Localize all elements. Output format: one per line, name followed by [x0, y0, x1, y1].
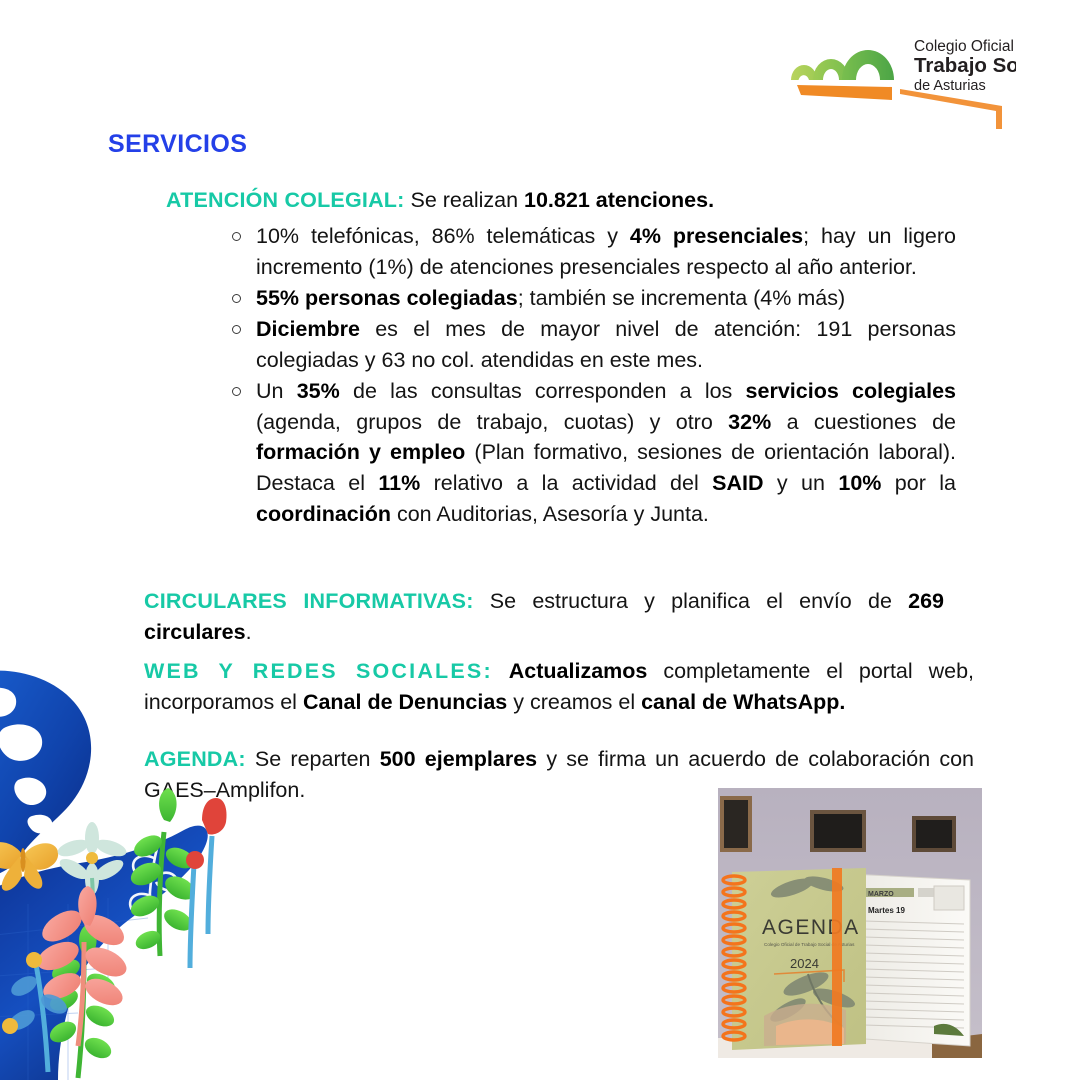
atencion-bullet-list: 10% telefónicas, 86% telemáticas y 4% pr…: [166, 221, 956, 531]
text-run: Un: [256, 379, 297, 403]
text-run: Se estructura y planifica el envío de: [474, 589, 909, 613]
bold-run: SAID: [712, 471, 763, 495]
text-run: y creamos el: [507, 690, 641, 714]
text-run: (agenda, grupos de trabajo, cuotas) y ot…: [256, 410, 728, 434]
planner-day: Martes 19: [868, 906, 905, 915]
text-run: con Auditorias, Asesoría y Junta.: [391, 502, 709, 526]
cover-year: 2024: [790, 956, 819, 971]
logo-arches-icon: [791, 50, 894, 80]
bullet-item: 10% telefónicas, 86% telemáticas y 4% pr…: [166, 221, 956, 283]
paragraph-heading: CIRCULARES INFORMATIVAS:: [144, 589, 474, 613]
slide-page: Colegio Oficial de Trabajo Social de Ast…: [0, 0, 1080, 1080]
agenda-cover-icon: AGENDA Colegio Oficial de Trabajo Social…: [723, 868, 866, 1050]
logo-line3: de Asturias: [914, 78, 986, 94]
agenda-photo: MARZO Martes 19: [718, 788, 982, 1058]
bold-run: 4% presenciales: [630, 224, 803, 248]
bold-run: 500 ejemplares: [380, 747, 537, 771]
logo-orange-wedge-icon: [797, 85, 892, 100]
cover-title: AGENDA: [762, 916, 860, 939]
bold-run: 35%: [297, 379, 340, 403]
bold-run: 10%: [838, 471, 881, 495]
atencion-lead-plain: Se realizan: [405, 188, 525, 212]
bold-run: 11%: [378, 471, 420, 495]
bold-run: servicios colegiales: [746, 379, 956, 403]
text-run: de las consultas corresponden a los: [340, 379, 746, 403]
atencion-heading: ATENCIÓN COLEGIAL:: [166, 188, 405, 212]
bullet-item: Diciembre es el mes de mayor nivel de at…: [166, 314, 956, 376]
text-run: y un: [764, 471, 839, 495]
paragraph-circulares: CIRCULARES INFORMATIVAS: Se estructura y…: [144, 586, 944, 647]
atencion-lead-bold: 10.821 atenciones.: [524, 188, 714, 212]
bold-run: Diciembre: [256, 317, 360, 341]
text-run: [493, 659, 509, 683]
bullet-item: 55% personas colegiadas; también se incr…: [166, 283, 956, 314]
atencion-lead: ATENCIÓN COLEGIAL: Se realizan 10.821 at…: [166, 186, 956, 215]
text-run: ; también se incrementa (4% más): [518, 286, 845, 310]
logo-line2: Trabajo Social: [914, 54, 1016, 77]
bold-run: 32%: [728, 410, 771, 434]
page-title: SERVICIOS: [108, 130, 247, 159]
logo-line1: Colegio Oficial de: [914, 38, 1016, 55]
atencion-colegial-block: ATENCIÓN COLEGIAL: Se realizan 10.821 at…: [166, 186, 956, 530]
logo-orange-line-icon: [900, 89, 1002, 129]
text-run: por la: [881, 471, 956, 495]
globe-flowers-illustration: [0, 668, 288, 1080]
bold-run: coordinación: [256, 502, 391, 526]
bold-run: canal de WhatsApp.: [641, 690, 845, 714]
text-run: relativo a la actividad del: [420, 471, 712, 495]
planner-month: MARZO: [868, 891, 894, 898]
open-planner-icon: MARZO Martes 19: [850, 874, 970, 1046]
colegio-logo: Colegio Oficial de Trabajo Social de Ast…: [788, 28, 1016, 136]
text-run: es el mes de mayor nivel de atención: 19…: [256, 317, 956, 372]
bold-run: Canal de Denuncias: [303, 690, 507, 714]
bold-run: 55% personas colegiadas: [256, 286, 518, 310]
text-run: 10% telefónicas, 86% telemáticas y: [256, 224, 630, 248]
text-run: a cuestiones de: [771, 410, 956, 434]
bold-run: Actualizamos: [509, 659, 648, 683]
text-run: .: [246, 620, 252, 644]
bullet-item: Un 35% de las consultas corresponden a l…: [166, 376, 956, 531]
bold-run: formación y empleo: [256, 440, 465, 464]
